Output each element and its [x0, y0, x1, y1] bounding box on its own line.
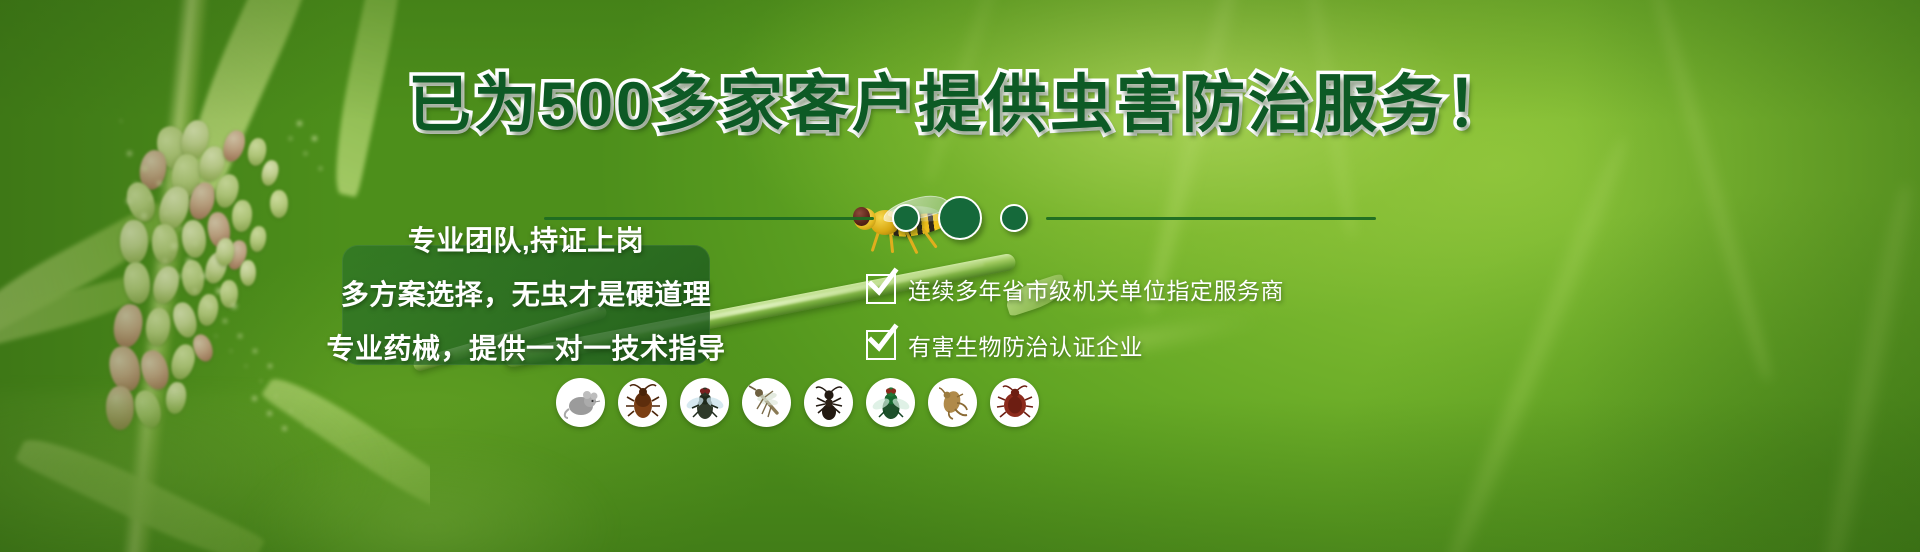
- page-title: 已为500多家客户提供虫害防治服务！: [0, 74, 1920, 137]
- bedbug-icon: [995, 383, 1035, 423]
- pest-icon-cockroach[interactable]: [618, 378, 667, 427]
- selling-point-line-1: 专业团队,持证上岗: [408, 219, 644, 259]
- certification-label: 连续多年省市级机关单位指定服务商: [908, 272, 1284, 306]
- cockroach-icon: [623, 383, 663, 423]
- certification-list: 连续多年省市级机关单位指定服务商 有害生物防治认证企业: [866, 272, 1284, 362]
- pest-icon-mouse[interactable]: [556, 378, 605, 427]
- divider-dot-small-right: [1000, 204, 1028, 232]
- mouse-icon: [561, 383, 601, 423]
- mosquito-icon: [747, 383, 787, 423]
- list-item: 连续多年省市级机关单位指定服务商: [866, 272, 1284, 306]
- ant-icon: [809, 383, 849, 423]
- pest-icon-flea[interactable]: [928, 378, 977, 427]
- selling-point-line-3: 专业药械，提供一对一技术指导: [327, 327, 726, 367]
- pest-control-hero-banner: 已为500多家客户提供虫害防治服务！ 专业团队,持证上岗 多方案选择，无虫才是硬…: [0, 0, 1920, 552]
- pest-icon-fly[interactable]: [680, 378, 729, 427]
- checkbox-checked-icon: [866, 274, 896, 304]
- selling-point-line-2: 多方案选择，无虫才是硬道理: [341, 273, 712, 313]
- certification-label: 有害生物防治认证企业: [908, 328, 1143, 362]
- pest-type-icon-row: [556, 378, 1039, 427]
- blowfly-icon: [871, 383, 911, 423]
- fly-icon: [685, 383, 725, 423]
- list-item: 有害生物防治认证企业: [866, 328, 1284, 362]
- divider-line-right: [1046, 217, 1376, 220]
- divider-dot-large: [938, 196, 982, 240]
- decorative-divider: [0, 198, 1920, 238]
- pest-icon-blowfly[interactable]: [866, 378, 915, 427]
- pest-icon-mosquito[interactable]: [742, 378, 791, 427]
- selling-points-panel: 专业团队,持证上岗 多方案选择，无虫才是硬道理 专业药械，提供一对一技术指导: [342, 245, 710, 365]
- pest-icon-ant[interactable]: [804, 378, 853, 427]
- headline-text: 已为500多家客户提供虫害防治服务！: [408, 70, 1512, 140]
- divider-dot-small-left: [892, 204, 920, 232]
- checkbox-checked-icon: [866, 330, 896, 360]
- pest-icon-bedbug[interactable]: [990, 378, 1039, 427]
- flea-icon: [933, 383, 973, 423]
